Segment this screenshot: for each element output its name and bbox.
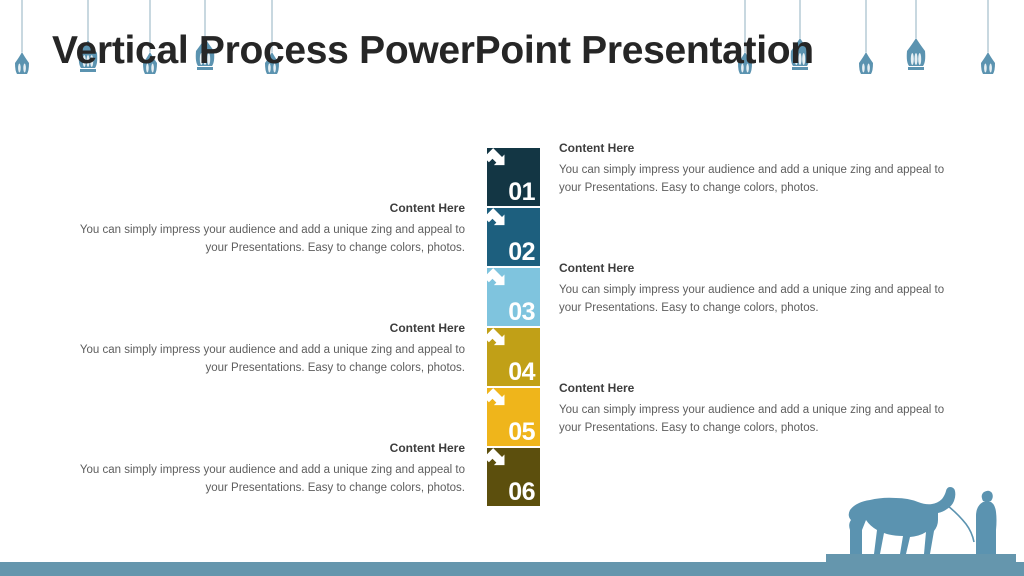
step-body-text: You can simply impress your audience and…	[559, 402, 951, 438]
step-text-06: Content HereYou can simply impress your …	[70, 441, 465, 498]
camel-and-herder-silhouette	[826, 480, 1016, 562]
step-block-06[interactable]: 06	[487, 448, 540, 506]
ground-line	[826, 554, 1016, 562]
step-number-label: 02	[508, 240, 535, 265]
step-text-02: Content HereYou can simply impress your …	[70, 201, 465, 258]
step-block-05[interactable]: 05	[487, 388, 540, 446]
step-heading: Content Here	[559, 261, 951, 275]
step-block-01[interactable]: 01	[487, 148, 540, 206]
arrow-down-right-icon	[487, 328, 509, 350]
step-number-label: 04	[508, 360, 535, 385]
step-number-column: 010203040506	[487, 148, 540, 508]
step-number-label: 05	[508, 420, 535, 445]
lantern-icon	[15, 0, 29, 74]
camel-icon	[849, 487, 974, 554]
step-body-text: You can simply impress your audience and…	[559, 162, 951, 198]
step-body-text: You can simply impress your audience and…	[70, 342, 465, 378]
step-block-04[interactable]: 04	[487, 328, 540, 386]
arrow-down-right-icon	[487, 448, 509, 470]
step-heading: Content Here	[70, 321, 465, 335]
step-heading: Content Here	[559, 141, 951, 155]
slide-title: Vertical Process PowerPoint Presentation	[52, 30, 992, 73]
arrow-down-right-icon	[487, 268, 509, 290]
step-text-05: Content HereYou can simply impress your …	[559, 381, 951, 438]
step-number-label: 06	[508, 480, 535, 505]
step-heading: Content Here	[70, 441, 465, 455]
step-heading: Content Here	[70, 201, 465, 215]
step-text-03: Content HereYou can simply impress your …	[559, 261, 951, 318]
step-block-02[interactable]: 02	[487, 208, 540, 266]
slide-canvas: Vertical Process PowerPoint Presentation…	[0, 0, 1024, 576]
footer-bar	[0, 562, 1024, 576]
step-heading: Content Here	[559, 381, 951, 395]
step-block-03[interactable]: 03	[487, 268, 540, 326]
step-body-text: You can simply impress your audience and…	[559, 282, 951, 318]
arrow-down-right-icon	[487, 388, 509, 410]
arrow-down-right-icon	[487, 148, 509, 170]
step-number-label: 03	[508, 300, 535, 325]
step-body-text: You can simply impress your audience and…	[70, 462, 465, 498]
step-number-label: 01	[508, 180, 535, 205]
step-text-04: Content HereYou can simply impress your …	[70, 321, 465, 378]
arrow-down-right-icon	[487, 208, 509, 230]
step-text-01: Content HereYou can simply impress your …	[559, 141, 951, 198]
herder-figure-icon	[976, 491, 997, 554]
step-body-text: You can simply impress your audience and…	[70, 222, 465, 258]
